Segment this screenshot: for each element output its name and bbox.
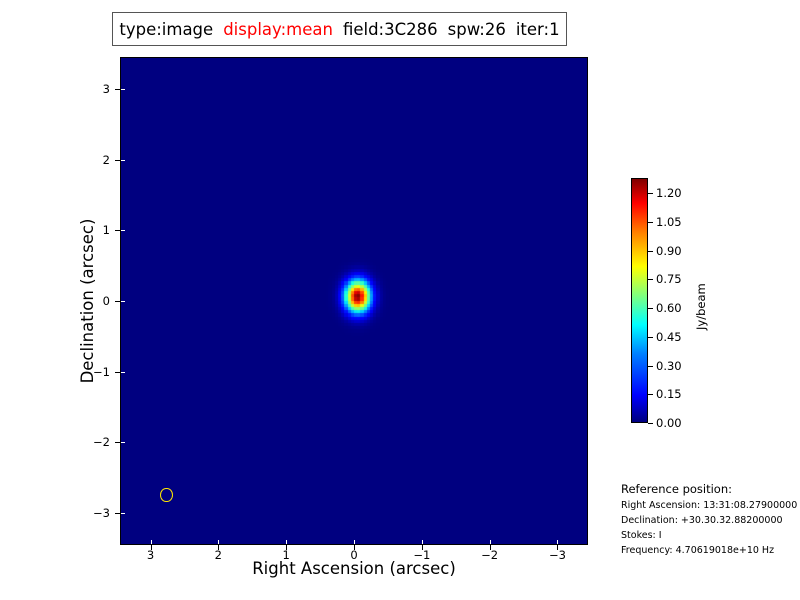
colorbar-tick-label: 0.90	[656, 244, 682, 258]
x-tick-mark-inner	[286, 540, 287, 544]
reference-position-heading: Reference position:	[621, 482, 799, 496]
y-tick-mark-inner	[121, 513, 125, 514]
x-tick-mark-inner	[422, 540, 423, 544]
reference-position-block: Reference position: Right Ascension: 13:…	[621, 482, 799, 560]
reference-frequency: Frequency: 4.70619018e+10 Hz	[621, 545, 799, 556]
colorbar-tick-mark	[648, 423, 653, 424]
x-tick-mark-inner	[151, 540, 152, 544]
colorbar-tick-label: 0.30	[656, 359, 682, 373]
y-tick-mark	[115, 89, 120, 90]
colorbar-unit-label: Jy/beam	[694, 283, 708, 330]
plot-title-box: type:image display:mean field:3C286 spw:…	[112, 12, 567, 46]
x-axis-label: Right Ascension (arcsec)	[120, 559, 588, 578]
colorbar-tick-label: 0.45	[656, 330, 682, 344]
colorbar-tick-mark	[648, 193, 653, 194]
colorbar-tick-mark	[648, 394, 653, 395]
colorbar-tick-mark	[648, 251, 653, 252]
reference-stokes: Stokes: I	[621, 530, 799, 541]
colorbar-tick-mark	[648, 337, 653, 338]
colorbar-tick-label: 1.05	[656, 215, 682, 229]
sky-image-canvas	[121, 58, 587, 544]
title-segment-display: display:mean	[218, 20, 338, 39]
title-segment-type: type:image	[114, 20, 218, 39]
y-tick-mark	[115, 513, 120, 514]
y-tick-mark-inner	[121, 301, 125, 302]
y-tick-label: 0	[103, 294, 110, 308]
title-segment-iter: iter:1	[511, 20, 565, 39]
colorbar-gradient	[631, 178, 648, 423]
colorbar-tick-label: 0.15	[656, 387, 682, 401]
title-segment-spw: spw:26	[443, 20, 511, 39]
y-tick-mark	[115, 372, 120, 373]
region-circle-annotation[interactable]	[160, 488, 172, 502]
colorbar-tick-mark	[648, 279, 653, 280]
y-tick-label: 1	[103, 223, 110, 237]
reference-declination: Declination: +30.30.32.88200000	[621, 515, 799, 526]
reference-right-ascension: Right Ascension: 13:31:08.27900000	[621, 500, 799, 511]
x-tick-mark-inner	[354, 540, 355, 544]
y-tick-mark-inner	[121, 442, 125, 443]
y-tick-mark	[115, 160, 120, 161]
colorbar-tick-label: 1.20	[656, 186, 682, 200]
y-tick-mark-inner	[121, 230, 125, 231]
colorbar-tick-label: 0.00	[656, 416, 682, 430]
colorbar-tick-mark	[648, 308, 653, 309]
y-tick-mark-inner	[121, 160, 125, 161]
colorbar-tick-label: 0.60	[656, 301, 682, 315]
x-tick-mark-inner	[557, 540, 558, 544]
y-tick-mark	[115, 442, 120, 443]
y-tick-label: 2	[103, 153, 110, 167]
y-tick-mark-inner	[121, 372, 125, 373]
y-tick-mark	[115, 230, 120, 231]
colorbar-tick-mark	[648, 366, 653, 367]
y-tick-label: 3	[103, 82, 110, 96]
colorbar-tick-mark	[648, 222, 653, 223]
y-tick-mark	[115, 301, 120, 302]
x-tick-mark-inner	[218, 540, 219, 544]
title-segment-field: field:3C286	[338, 20, 443, 39]
y-axis-label: Declination (arcsec)	[78, 57, 97, 545]
y-tick-mark-inner	[121, 89, 125, 90]
colorbar[interactable]	[631, 178, 648, 423]
image-plot-area[interactable]	[120, 57, 588, 545]
x-tick-mark-inner	[490, 540, 491, 544]
colorbar-tick-label: 0.75	[656, 272, 682, 286]
